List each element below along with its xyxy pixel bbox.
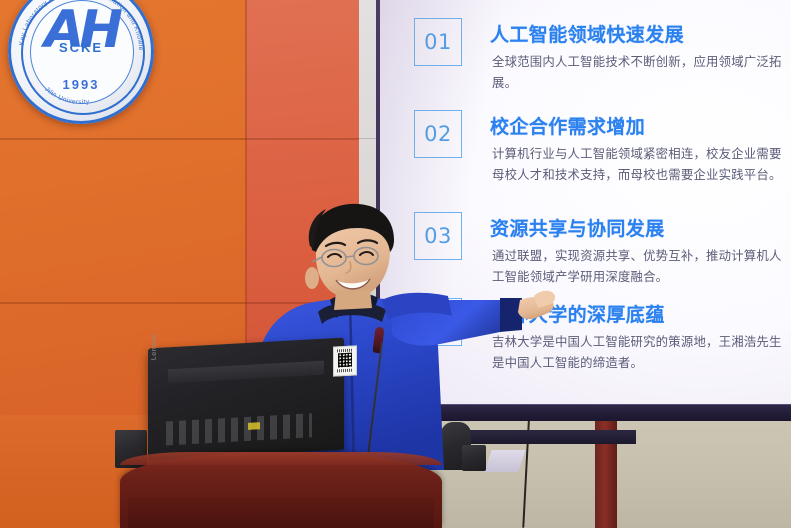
- slide-number-box-02: 02: [414, 110, 462, 158]
- emblem-year: 1993: [8, 77, 154, 92]
- desk-plate: [484, 450, 525, 472]
- asset-qr-sticker: [333, 345, 357, 376]
- equipment-shelf-bar: [366, 430, 636, 444]
- monitor-port-yellow: [248, 422, 260, 430]
- slide-title-03: 资源共享与协同发展: [490, 214, 665, 241]
- emblem-acronym: SCKE: [8, 40, 154, 55]
- monitor-port-row: [166, 413, 312, 445]
- speaker-box-right-3: [462, 445, 486, 471]
- slide-number-box-01: 01: [414, 18, 462, 66]
- slide-title-02: 校企合作需求增加: [490, 112, 645, 139]
- slide-body-03: 通过联盟，实现资源共享、优势互补，推动计算机人工智能领域产学研用深度融合。: [492, 246, 784, 288]
- slide-body-02: 计算机行业与人工智能领域紧密相连，校友企业需要母校人才和技术支持，而母校也需要企…: [492, 144, 784, 186]
- podium-front-panel: [128, 498, 434, 528]
- presentation-photo-scene: Key Laboratory of Symbolic Computation a…: [0, 0, 791, 528]
- slide-title-04: 吉林大学的深厚底蕴: [490, 300, 665, 327]
- wall-seam-horizontal-lower: [0, 302, 359, 304]
- qr-code-icon: [338, 353, 352, 368]
- screen-frame-bottom: [376, 404, 791, 421]
- slide-content: 01 人工智能领域快速发展 全球范围内人工智能技术不断创新，应用领域广泛拓展。 …: [380, 0, 791, 408]
- slide-number-box-04: 04: [414, 298, 462, 346]
- slide-title-01: 人工智能领域快速发展: [490, 20, 684, 47]
- podium-top-edge: [120, 452, 442, 465]
- slide-number-box-03: 03: [414, 212, 462, 260]
- slide-body-01: 全球范围内人工智能技术不断创新，应用领域广泛拓展。: [492, 52, 784, 94]
- slide-body-04: 吉林大学是中国人工智能研究的策源地，王湘浩先生是中国人工智能的缔造者。: [492, 332, 784, 374]
- wall-seam-horizontal-upper: [0, 138, 359, 140]
- sticker-text-bottom: [337, 369, 353, 373]
- monitor-brand-label: Lenovo: [151, 334, 158, 360]
- monitor-vent-panel: [168, 361, 324, 384]
- monitor-rear: Lenovo: [148, 338, 344, 461]
